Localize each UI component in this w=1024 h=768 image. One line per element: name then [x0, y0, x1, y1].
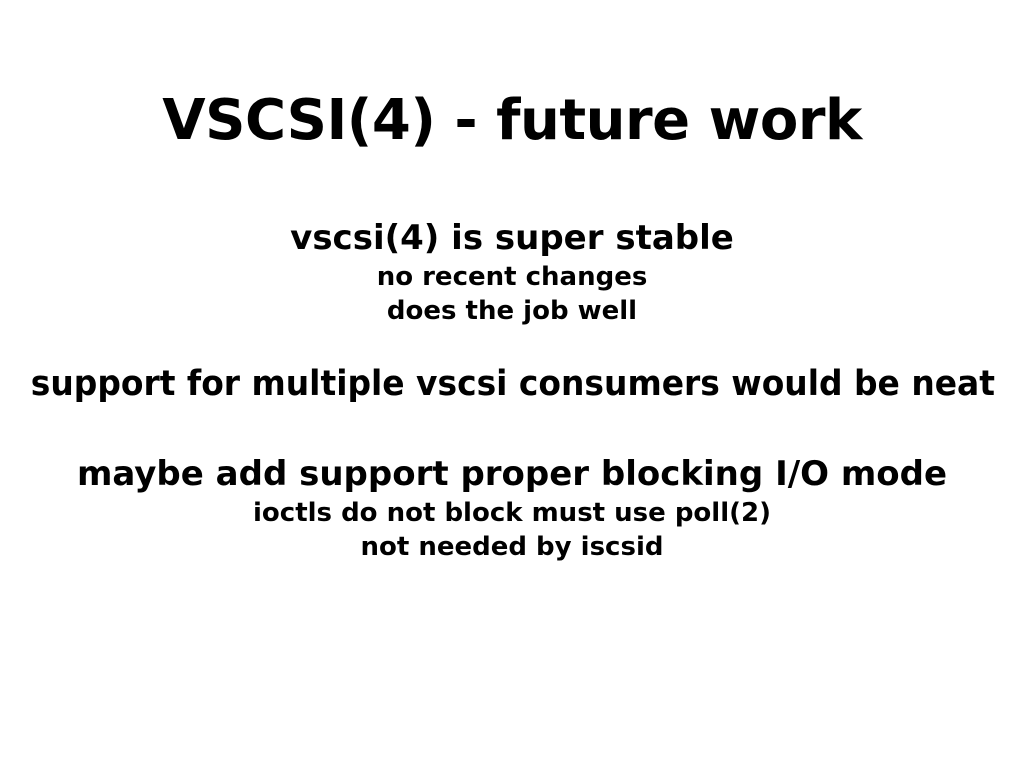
block-sub-line: no recent changes — [0, 261, 1024, 295]
block-heading: vscsi(4) is super stable — [0, 216, 1024, 261]
block-heading: support for multiple vscsi consumers wou… — [31, 362, 995, 408]
content-block-multiple-consumers: support for multiple vscsi consumers wou… — [0, 362, 1024, 408]
slide-title: VSCSI(4) - future work — [0, 92, 1024, 151]
block-sub-line: ioctls do not block must use poll(2) — [0, 497, 1024, 531]
block-heading: maybe add support proper blocking I/O mo… — [0, 452, 1024, 497]
block-sub-line: not needed by iscsid — [0, 531, 1024, 565]
presentation-slide: VSCSI(4) - future work vscsi(4) is super… — [0, 0, 1024, 768]
content-block-stability: vscsi(4) is super stable no recent chang… — [0, 216, 1024, 328]
content-block-blocking-io: maybe add support proper blocking I/O mo… — [0, 452, 1024, 564]
block-sub-line: does the job well — [0, 295, 1024, 329]
